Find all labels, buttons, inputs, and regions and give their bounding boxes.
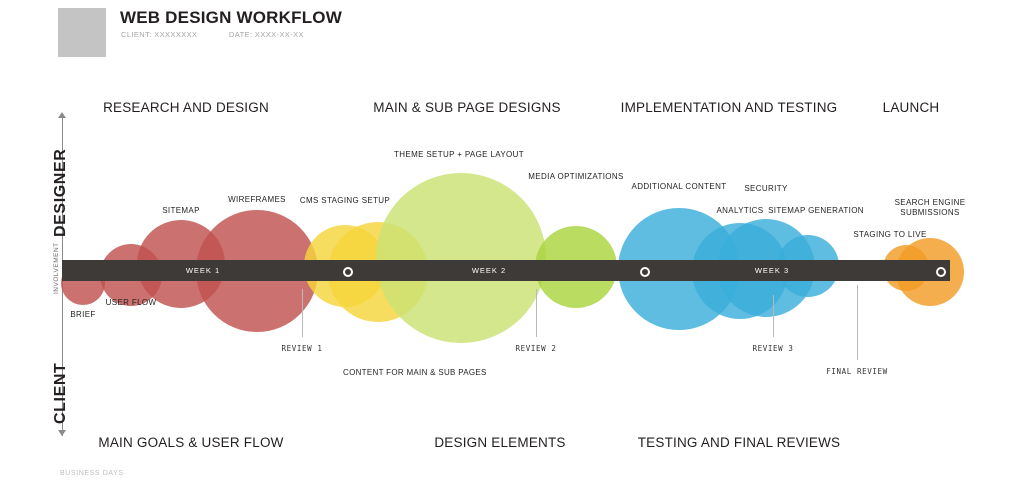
bubble-label-user-flow: USER FLOW — [61, 298, 201, 308]
timeline-bar[interactable]: WEEK 1 WEEK 2 WEEK 3 — [62, 260, 950, 281]
phase-title-testing-final-reviews: TESTING AND FINAL REVIEWS — [614, 435, 864, 450]
week-label-2: WEEK 2 — [429, 266, 549, 275]
week-marker-1[interactable] — [343, 267, 353, 277]
axis-label-involvement: INVOLVEMENT — [53, 242, 60, 294]
phase-title-launch: LAUNCH — [811, 100, 1011, 115]
bubble-label-search-engine-submissions: SEARCH ENGINE SUBMISSIONS — [890, 198, 970, 218]
phase-title-main-goals-user-flow: MAIN GOALS & USER FLOW — [41, 435, 341, 450]
review-line-final — [857, 285, 858, 360]
date-label: DATE: XXXX-XX-XX — [229, 30, 304, 39]
bubble-chart-area — [0, 0, 1014, 487]
client-label: CLIENT: XXXXXXXX — [121, 30, 197, 39]
bubble-label-security: SECURITY — [696, 184, 836, 194]
phase-title-design-elements: DESIGN ELEMENTS — [380, 435, 620, 450]
review-line-2 — [536, 289, 537, 337]
deliverable-label-content-for-main-sub-pages: CONTENT FOR MAIN & SUB PAGES — [343, 368, 487, 377]
bubble-label-sitemap: SITEMAP — [111, 206, 251, 216]
document-meta: CLIENT: XXXXXXXX DATE: XXXX-XX-XX — [121, 30, 304, 39]
bubble-label-media-optimizations: MEDIA OPTIMIZATIONS — [496, 172, 656, 182]
review-line-3 — [773, 295, 774, 337]
bubble-label-sitemap-generation: SITEMAP GENERATION — [736, 206, 896, 216]
review-line-1 — [302, 289, 303, 337]
week-marker-2[interactable] — [640, 267, 650, 277]
logo-placeholder-icon — [58, 8, 106, 57]
week-label-1: WEEK 1 — [143, 266, 263, 275]
phase-title-main-sub-page-designs: MAIN & SUB PAGE DESIGNS — [317, 100, 617, 115]
review-label-3: REVIEW 3 — [723, 344, 823, 353]
bubble-label-brief: BRIEF — [13, 310, 153, 320]
review-label-2: REVIEW 2 — [486, 344, 586, 353]
bubble-label-cms-staging-setup: CMS STAGING SETUP — [275, 196, 415, 206]
review-label-1: REVIEW 1 — [252, 344, 352, 353]
axis-label-designer: DESIGNER — [52, 149, 70, 237]
axis-label-client: CLIENT — [52, 363, 70, 424]
document-header: WEB DESIGN WORKFLOW CLIENT: XXXXXXXX DAT… — [0, 0, 1014, 70]
bubble-label-theme-setup-page-layout: THEME SETUP + PAGE LAYOUT — [369, 150, 549, 160]
review-label-final: FINAL REVIEW — [802, 367, 912, 376]
bubble-label-staging-to-live: STAGING TO LIVE — [820, 230, 960, 240]
week-label-3: WEEK 3 — [712, 266, 832, 275]
page-title: WEB DESIGN WORKFLOW — [120, 8, 342, 28]
week-marker-3[interactable] — [936, 267, 946, 277]
footer-note: BUSINESS DAYS — [60, 470, 124, 477]
